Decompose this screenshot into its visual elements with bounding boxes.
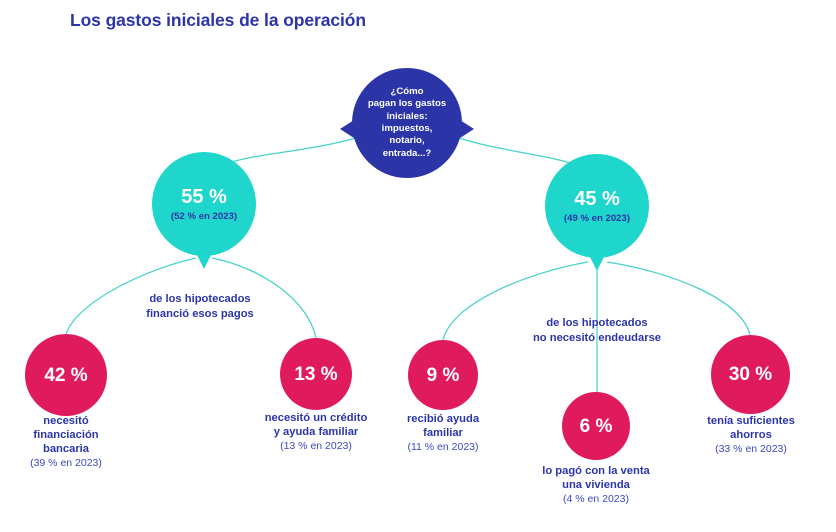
branch-note-left: de los hipotecados financió esos pagos — [80, 292, 320, 321]
page-title: Los gastos iniciales de la operación — [70, 10, 366, 31]
infographic-canvas: Los gastos iniciales de la operación ¿Có… — [0, 0, 836, 532]
branch-bubble-left: 55 % (52 % en 2023) — [152, 152, 256, 256]
root-label: ¿Cómo pagan los gastos iniciales: impues… — [362, 86, 452, 160]
leaf-bubble-9: 9 % — [408, 340, 478, 410]
leaf-value-9: 9 % — [427, 365, 460, 386]
leaf-bubble-30: 30 % — [711, 335, 790, 414]
leaf-value-42: 42 % — [44, 365, 87, 386]
branch-right-previous: (49 % en 2023) — [564, 213, 630, 225]
leaf-node-42[interactable]: 42 % — [25, 334, 107, 416]
leaf-value-6: 6 % — [580, 416, 613, 437]
leaf-node-6[interactable]: 6 % — [562, 392, 630, 460]
leaf-caption-13: necesitó un crédito y ayuda familiar (13… — [236, 411, 396, 453]
branch-left-tail-icon — [195, 251, 213, 269]
branch-left-value: 55 % — [181, 186, 227, 208]
leaf-bubble-42: 42 % — [25, 334, 107, 416]
branch-right-tail-icon — [588, 253, 606, 271]
branch-right-value: 45 % — [574, 188, 620, 210]
branch-left-previous: (52 % en 2023) — [171, 211, 237, 223]
root-node[interactable]: ¿Cómo pagan los gastos iniciales: impues… — [352, 68, 462, 178]
branch-node-left[interactable]: 55 % (52 % en 2023) — [152, 152, 256, 256]
leaf-value-13: 13 % — [294, 364, 337, 385]
leaf-value-30: 30 % — [729, 364, 772, 385]
leaf-bubble-6: 6 % — [562, 392, 630, 460]
branch-note-right: de los hipotecados no necesitó endeudars… — [477, 316, 717, 345]
root-tail-right-icon — [460, 120, 474, 138]
branch-node-right[interactable]: 45 % (49 % en 2023) — [545, 154, 649, 258]
branch-bubble-right: 45 % (49 % en 2023) — [545, 154, 649, 258]
leaf-node-30[interactable]: 30 % — [711, 335, 790, 414]
leaf-caption-9: recibió ayuda familiar (11 % en 2023) — [373, 412, 513, 454]
root-tail-left-icon — [340, 120, 354, 138]
leaf-node-9[interactable]: 9 % — [408, 340, 478, 410]
root-bubble: ¿Cómo pagan los gastos iniciales: impues… — [352, 68, 462, 178]
leaf-bubble-13: 13 % — [280, 338, 352, 410]
leaf-caption-6: lo pagó con la venta una vivienda (4 % e… — [511, 464, 681, 506]
leaf-caption-30: tenía suficientes ahorros (33 % en 2023) — [676, 414, 826, 456]
leaf-node-13[interactable]: 13 % — [280, 338, 352, 410]
leaf-caption-42: necesitó financiación bancaria (39 % en … — [0, 414, 136, 470]
